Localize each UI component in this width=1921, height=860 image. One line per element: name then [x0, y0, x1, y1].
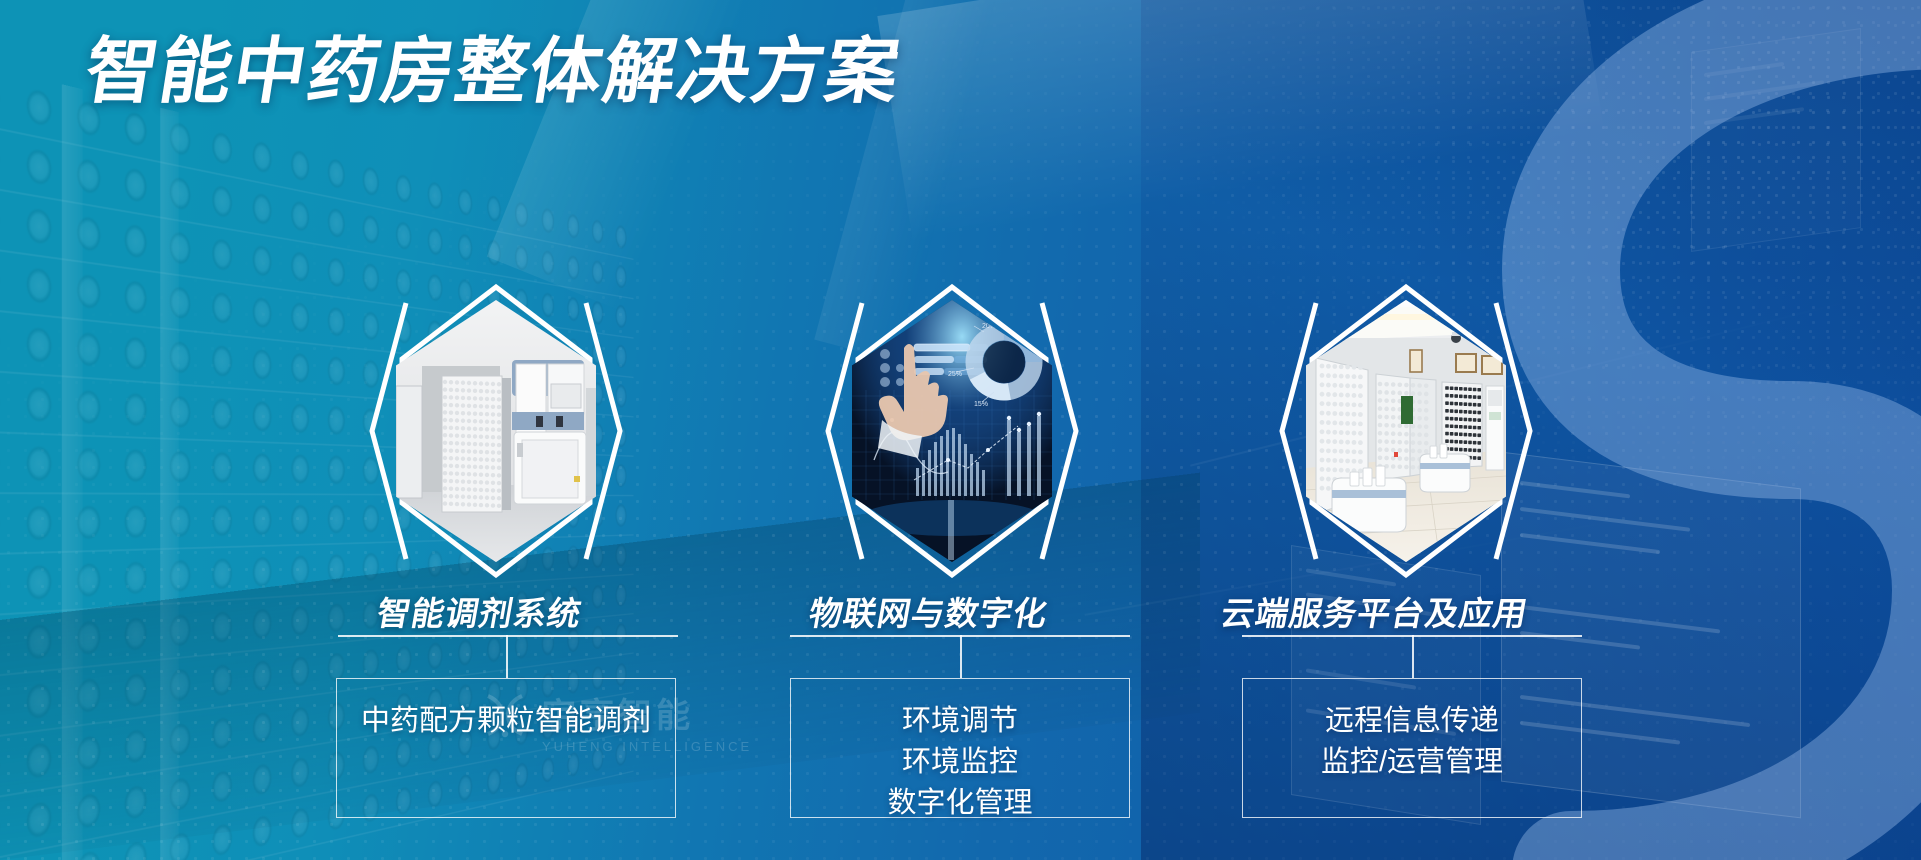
- section-connector-2: [960, 635, 962, 678]
- info-box-cloud-platform: 远程信息传递 监控/运营管理: [1242, 678, 1582, 818]
- svg-text:25%: 25%: [948, 371, 962, 378]
- info-line: 数字化管理: [887, 783, 1032, 824]
- section-label-cloud-platform: 云端服务平台及应用: [1218, 587, 1532, 635]
- info-line: 环境调节: [902, 701, 1018, 742]
- page-title: 智能中药房整体解决方案: [80, 36, 905, 108]
- section-connector-3: [1412, 635, 1414, 678]
- section-label-iot-digital: 物联网与数字化: [806, 587, 1052, 635]
- section-underline-1: [338, 635, 678, 637]
- section-label-smart-dispensing: 智能调剂系统: [374, 587, 586, 635]
- info-box-iot-digital: 环境调节 环境监控 数字化管理: [790, 678, 1130, 818]
- hex-frame-cloud-platform: [1272, 281, 1540, 581]
- watermark-logo: 宇亨智能 YUHENG INTELLIGENCE: [478, 688, 808, 798]
- hex-frame-iot-digital: 20% 25% 15%: [818, 281, 1086, 581]
- hex-frame-smart-dispensing: [362, 281, 630, 581]
- banner-root: 智能中药房整体解决方案: [0, 0, 1921, 860]
- section-connector-1: [506, 635, 508, 678]
- info-line: 监控/运营管理: [1321, 742, 1503, 783]
- info-line: 远程信息传递: [1325, 701, 1499, 742]
- info-line: 环境监控: [902, 742, 1018, 783]
- svg-text:15%: 15%: [974, 401, 988, 408]
- brand-mark-icon: [478, 688, 532, 742]
